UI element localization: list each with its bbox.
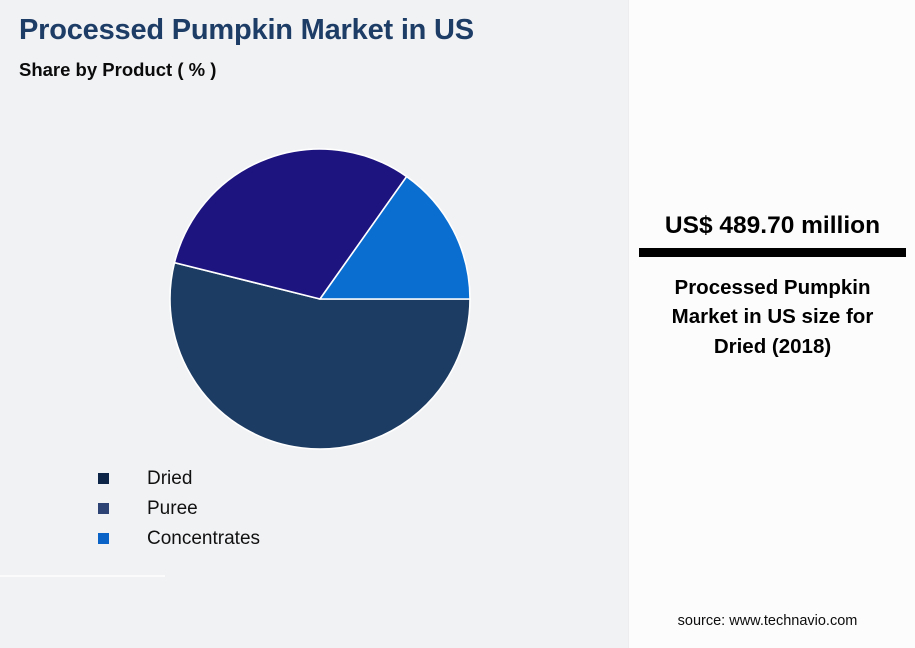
legend-swatch-icon	[98, 533, 109, 544]
source-note: source: www.technavio.com	[629, 613, 906, 629]
kpi-block: US$ 489.70 million Processed Pumpkin Mar…	[639, 212, 906, 361]
legend-swatch-icon	[98, 473, 109, 484]
kpi-underline	[639, 248, 906, 257]
legend-item-label: Puree	[147, 499, 198, 518]
legend-item-concentrates[interactable]: Concentrates	[98, 523, 428, 553]
legend-item-label: Dried	[147, 469, 192, 488]
kpi-panel: US$ 489.70 million Processed Pumpkin Mar…	[628, 0, 915, 648]
panel-divider	[0, 575, 165, 577]
kpi-value: US$ 489.70 million	[639, 212, 906, 240]
legend-swatch-icon	[98, 503, 109, 514]
pie-chart	[0, 0, 627, 470]
chart-panel: Processed Pumpkin Market in US Share by …	[0, 0, 627, 648]
kpi-caption: Processed Pumpkin Market in US size for …	[639, 273, 906, 361]
legend-item-puree[interactable]: Puree	[98, 493, 428, 523]
legend-item-label: Concentrates	[147, 529, 260, 548]
chart-figure: Processed Pumpkin Market in US Share by …	[0, 0, 915, 648]
pie-chart-svg	[0, 0, 627, 470]
chart-legend: Dried Puree Concentrates	[98, 463, 428, 553]
legend-item-dried[interactable]: Dried	[98, 463, 428, 493]
